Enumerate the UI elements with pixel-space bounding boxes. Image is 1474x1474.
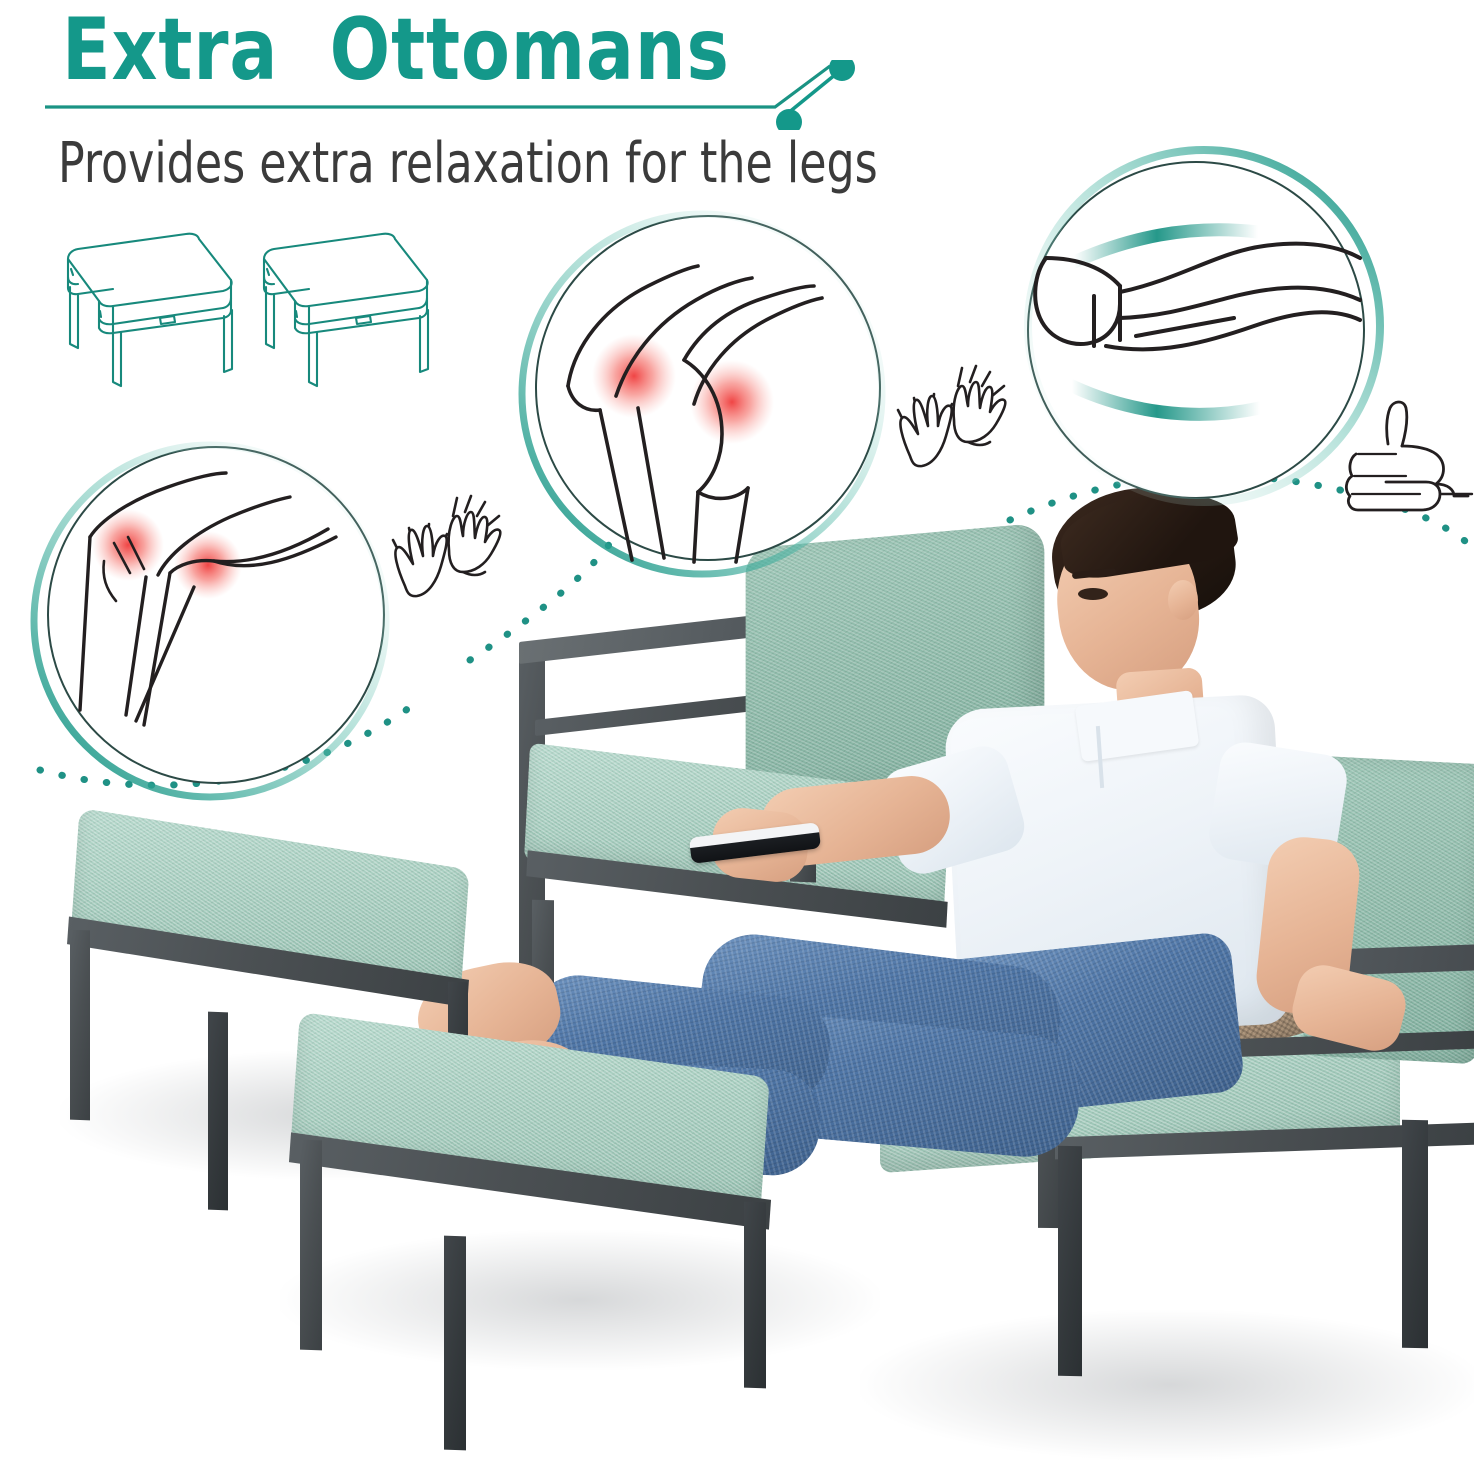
medallion-knee-pain-center [508, 190, 908, 590]
ottoman-lineart-pair [45, 222, 465, 402]
page-subtitle: Provides extra relaxation for the legs [58, 133, 878, 195]
title-rule-flourish [0, 60, 900, 130]
person-ear [1168, 580, 1198, 620]
ottoman-shadow-2 [280, 1230, 880, 1370]
person-eye [1078, 588, 1108, 600]
flourish-dot-lower [776, 109, 802, 130]
sofa-shadow [860, 1310, 1474, 1460]
infographic-canvas: Extra Ottomans Provides extra relaxation… [0, 0, 1474, 1474]
open-palms-icon [375, 490, 525, 610]
pain-spot-1 [592, 334, 676, 418]
sofa-leg-front-right-b [1402, 1120, 1428, 1348]
ottoman-2-leg-front [444, 1236, 466, 1451]
ottoman-lineart-2 [264, 234, 428, 386]
medallion-knee-pain-left [18, 425, 418, 805]
ottoman-2-leg-right [744, 1202, 766, 1389]
ottoman-2-leg-left [300, 1140, 322, 1351]
sofa-leg-front-right-a [1058, 1146, 1082, 1376]
ottoman-lineart-1 [68, 234, 232, 386]
ottoman-1-leg-left [70, 930, 90, 1121]
pain-spot-2 [690, 360, 774, 444]
thumbs-up-icon [1336, 398, 1474, 514]
ottoman-1-leg-front [208, 1012, 228, 1211]
medallion-leg-relaxed [1008, 140, 1388, 520]
